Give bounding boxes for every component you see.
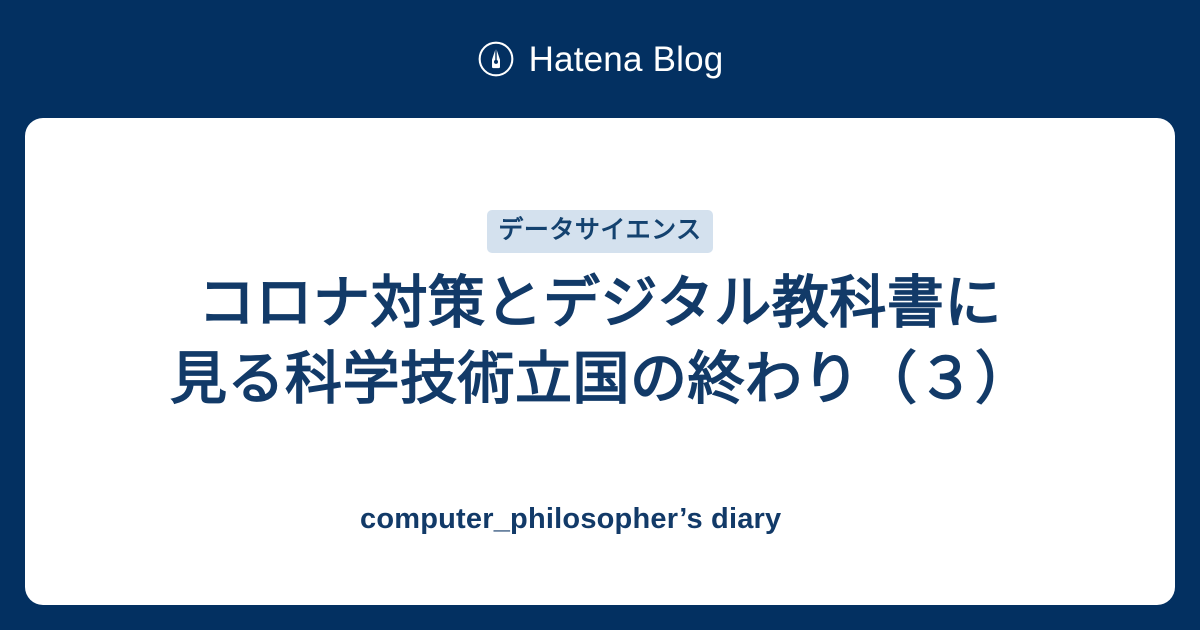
hatena-blog-brand-bar: Hatena Blog [0, 0, 1200, 118]
fountain-pen-nib-in-circle-icon [477, 40, 515, 78]
blog-name-row: computer_philosopher’s diary [25, 502, 1175, 537]
entry-title: コロナ対策とデジタル教科書に見る科学技術立国の終わり（３） [170, 265, 1030, 417]
blog-name[interactable]: computer_philosopher’s diary [360, 503, 781, 535]
category-tag-row: データサイエンス [65, 210, 1135, 253]
entry-card-body: データサイエンス コロナ対策とデジタル教科書に見る科学技術立国の終わり（３） [25, 118, 1175, 502]
hatena-blog-brand-name: Hatena Blog [529, 42, 724, 77]
entry-card: データサイエンス コロナ対策とデジタル教科書に見る科学技術立国の終わり（３） c… [25, 118, 1175, 605]
category-tag[interactable]: データサイエンス [487, 210, 712, 253]
ogp-card-root: Hatena Blog データサイエンス コロナ対策とデジタル教科書に見る科学技… [0, 0, 1200, 630]
